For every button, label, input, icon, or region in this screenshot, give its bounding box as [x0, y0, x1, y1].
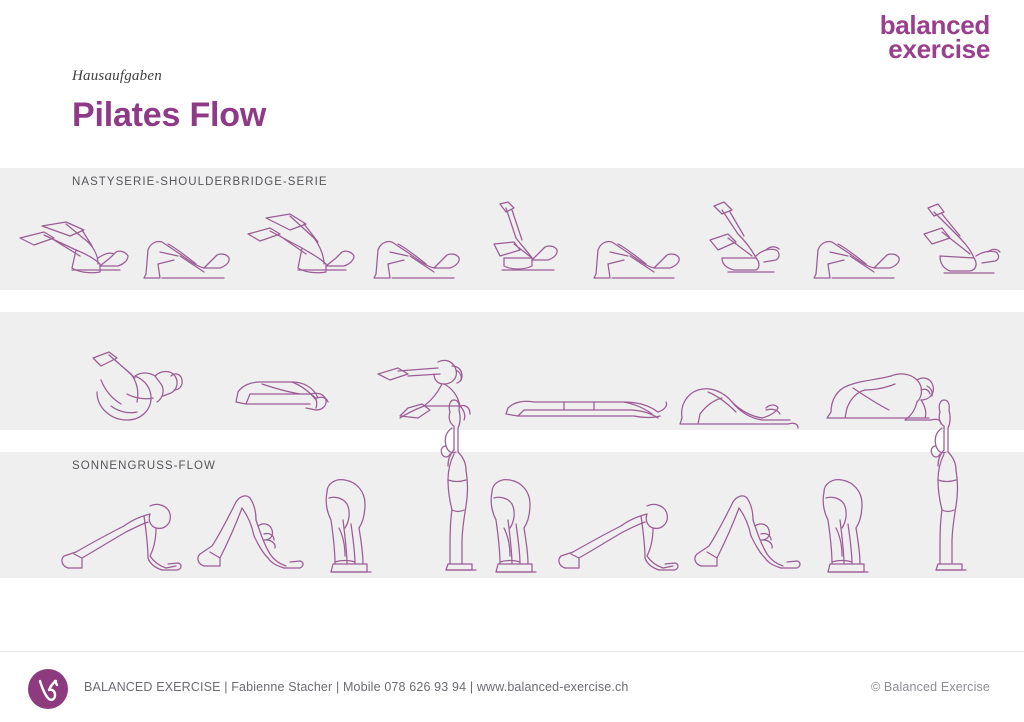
bird-mark-icon — [28, 669, 68, 709]
exercise-figure[interactable] — [14, 208, 134, 288]
exercise-figure-standing-arms-overhead[interactable] — [922, 398, 978, 574]
exercise-figure[interactable] — [664, 362, 809, 432]
exercise-strip-2 — [0, 340, 1024, 432]
exercise-figure[interactable] — [553, 482, 683, 578]
exercise-figure[interactable] — [504, 372, 664, 432]
footer-divider — [0, 651, 1024, 652]
brand-logo: balanced exercise — [880, 14, 990, 62]
exercise-figure[interactable] — [186, 478, 306, 578]
exercise-figure-standing-arms-overhead[interactable] — [432, 398, 488, 574]
exercise-figure[interactable] — [804, 208, 914, 288]
handout-page: balanced exercise Hausaufgaben Pilates F… — [0, 0, 1024, 722]
exercise-figure[interactable] — [56, 482, 186, 578]
exercise-strip-3 — [0, 470, 1024, 578]
section-label-nastyserie: NASTYSERIE-SHOULDERBRIDGE-SERIE — [72, 176, 328, 188]
page-title: Pilates Flow — [72, 96, 266, 135]
exercise-figure[interactable] — [803, 474, 885, 578]
exercise-figure[interactable] — [244, 208, 364, 288]
brand-logo-line2: exercise — [880, 38, 990, 62]
exercise-strip-1 — [0, 196, 1024, 288]
footer-contact: BALANCED EXERCISE | Fabienne Stacher | M… — [84, 680, 628, 694]
exercise-figure[interactable] — [914, 200, 1024, 288]
exercise-figure[interactable] — [215, 346, 360, 432]
page-kicker: Hausaufgaben — [72, 68, 162, 85]
exercise-figure[interactable] — [306, 474, 388, 578]
exercise-figure[interactable] — [134, 208, 244, 288]
exercise-figure[interactable] — [364, 208, 474, 288]
exercise-figure[interactable] — [584, 208, 694, 288]
exercise-figure[interactable] — [70, 346, 215, 432]
exercise-figure[interactable] — [474, 200, 584, 288]
exercise-figure[interactable] — [694, 200, 804, 288]
exercise-figure[interactable] — [683, 478, 803, 578]
footer-copyright: © Balanced Exercise — [871, 680, 990, 694]
